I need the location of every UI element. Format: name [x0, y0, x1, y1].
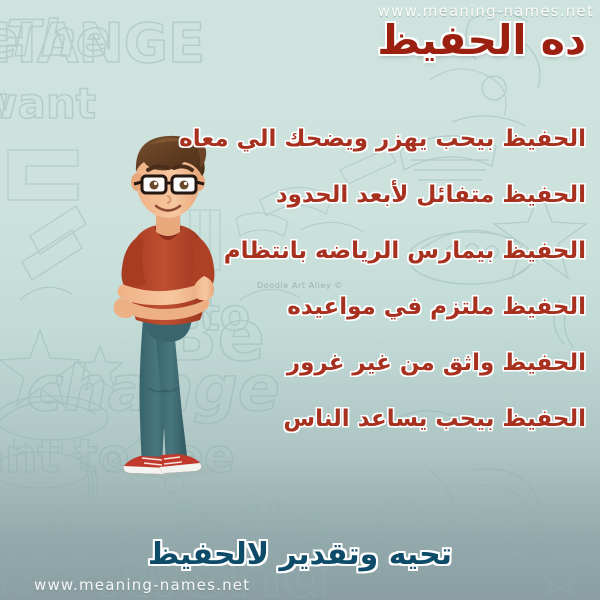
trait-line: الحفيظ بيحب يهزر ويضحك الي معاه	[250, 128, 586, 151]
watermark-bottom: www.meaning-names.net	[34, 576, 250, 594]
trait-list: الحفيظ بيحب يهزر ويضحك الي معاه الحفيظ م…	[250, 128, 586, 431]
cartoon-character-illustration	[92, 118, 242, 488]
trait-line: الحفيظ واثق من غير غرور	[250, 352, 586, 375]
svg-text:The: The	[6, 10, 110, 68]
trait-line: الحفيظ بيحب يساعد الناس	[250, 408, 586, 431]
trait-line: الحفيظ متفائل لأبعد الحدود	[250, 184, 586, 207]
page-title: ده الحفيظ	[377, 20, 586, 61]
trait-line: الحفيظ بيمارس الرياضه بانتظام	[250, 240, 586, 263]
footer-greeting-text: تحيه وتقدير لالحفيظ	[148, 540, 452, 570]
svg-text:want: want	[0, 79, 96, 128]
name-meaning-card: .dw{font-family:"DejaVu Sans",sans-serif…	[0, 0, 600, 600]
trait-line: الحفيظ ملتزم في مواعيده	[250, 296, 586, 319]
svg-text:CHANGE: CHANGE	[0, 12, 205, 75]
svg-text:SEE: SEE	[0, 139, 2, 185]
svg-text:Be: Be	[0, 11, 18, 71]
svg-text:You: You	[0, 78, 8, 129]
footer-greeting: تحيه وتقدير لالحفيظ	[0, 540, 600, 570]
